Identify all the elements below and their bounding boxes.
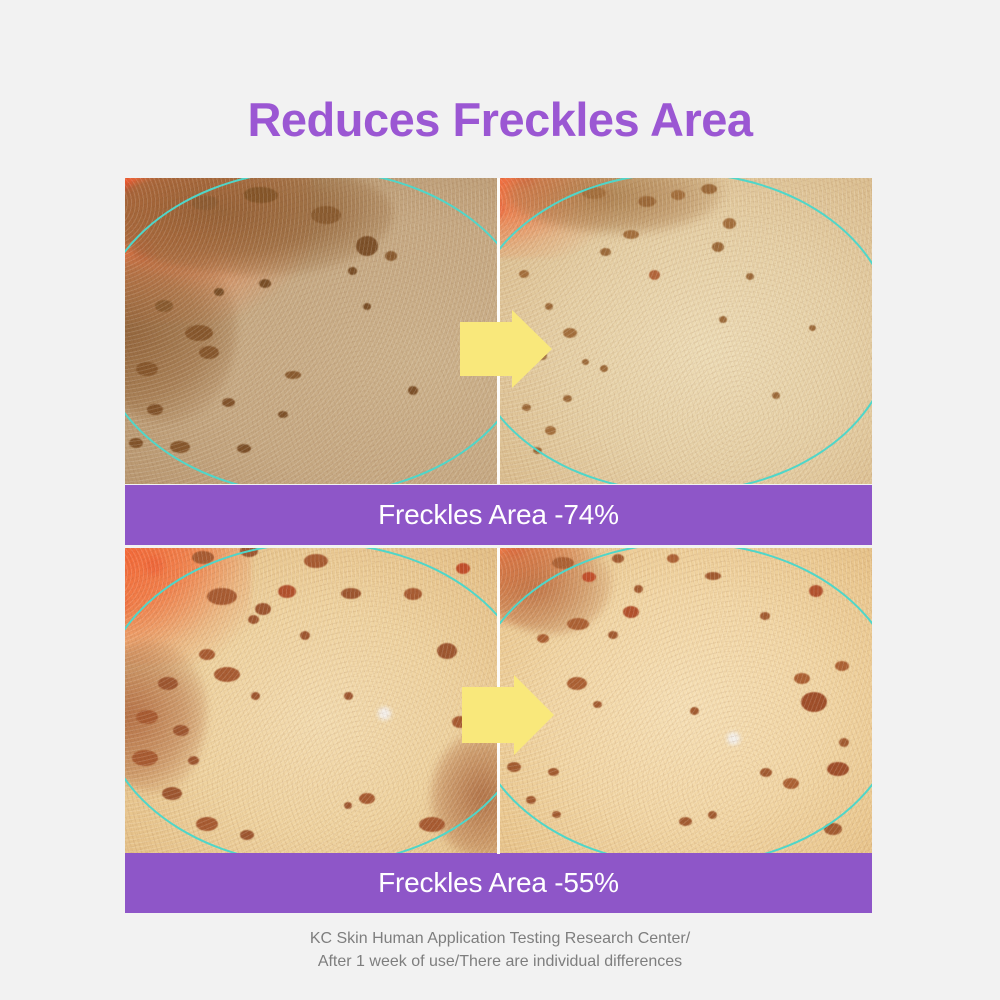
skin-image — [125, 548, 497, 854]
analysis-circle-icon — [125, 548, 497, 854]
footer-disclaimer: KC Skin Human Application Testing Resear… — [0, 927, 1000, 973]
product-claim-graphic: Reduces Freckles Area — [0, 0, 1000, 1000]
caption-bar-1: Freckles Area -74% — [125, 485, 872, 545]
comparison-block-1 — [125, 178, 872, 484]
skin-image — [500, 178, 872, 484]
photo-row-2 — [125, 548, 872, 854]
footer-line-2: After 1 week of use/There are individual… — [0, 950, 1000, 973]
after-photo-2 — [500, 548, 872, 854]
caption-bar-2: Freckles Area -55% — [125, 853, 872, 913]
analysis-circle-icon — [500, 178, 872, 484]
caption-label: Freckles Area -74% — [378, 499, 619, 531]
skin-image — [125, 178, 497, 484]
before-photo-2 — [125, 548, 497, 854]
analysis-circle-icon — [500, 548, 872, 854]
right-arrow-icon — [462, 675, 554, 755]
page-title: Reduces Freckles Area — [0, 92, 1000, 147]
footer-line-1: KC Skin Human Application Testing Resear… — [0, 927, 1000, 950]
photo-row-1 — [125, 178, 872, 484]
right-arrow-icon — [460, 310, 552, 388]
comparison-block-2 — [125, 548, 872, 854]
after-photo-1 — [500, 178, 872, 484]
caption-label: Freckles Area -55% — [378, 867, 619, 899]
analysis-circle-icon — [125, 178, 497, 484]
before-photo-1 — [125, 178, 497, 484]
skin-image — [500, 548, 872, 854]
